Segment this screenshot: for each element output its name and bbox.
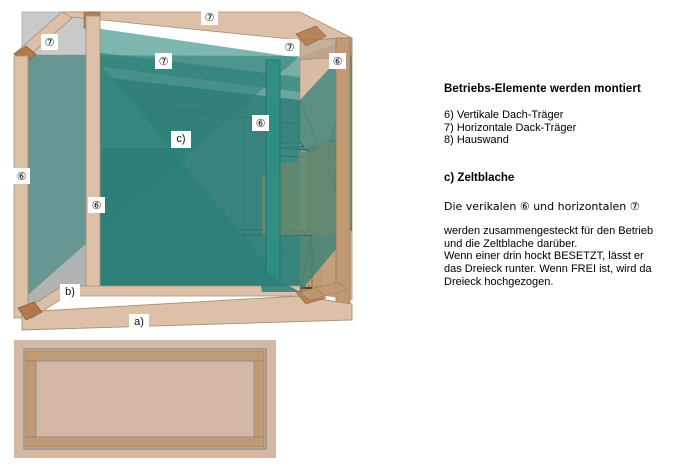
- isometric-toilet-diagram: +: [0, 0, 370, 340]
- legend-item-8: 8) Hauswand: [444, 134, 676, 147]
- paragraph-line-4: das Dreieck runter. Wenn FREI ist, wird …: [444, 263, 676, 276]
- paragraph-line-3: Wenn einer drin hockt BESETZT, lässt er: [444, 250, 676, 263]
- description-paragraph: werden zusammengesteckt für den Betrieb …: [444, 225, 676, 289]
- legend-item-6: 6) Vertikale Dach-Träger: [444, 109, 676, 122]
- info-panel: Betriebs-Elemente werden montiert 6) Ver…: [444, 82, 676, 289]
- legend-list: 6) Vertikale Dach-Träger 7) Horizontale …: [444, 109, 676, 147]
- screenshot-root: +: [0, 0, 685, 464]
- paragraph-line-5: Dreieck hochgezogen.: [444, 276, 676, 289]
- callout-base-a: a): [129, 314, 149, 331]
- callout-top-left-7: ⑦: [41, 34, 58, 50]
- callout-floor-b: b): [60, 284, 80, 301]
- callout-top-right-7: ⑦: [281, 39, 298, 55]
- section-heading: c) Zeltblache: [444, 171, 676, 185]
- paragraph-line-2: und die Zeltblache darüber.: [444, 238, 676, 251]
- callout-top-center-7: ⑦: [201, 9, 218, 25]
- callout-left-6: ⑥: [13, 168, 30, 184]
- callout-center-6: ⑥: [252, 115, 269, 131]
- flat-tarp-panel: [8, 336, 288, 466]
- callout-inner-6: ⑥: [88, 197, 105, 213]
- callout-right-upper-6: ⑥: [329, 53, 346, 69]
- callout-mid-left-7: ⑦: [155, 53, 172, 69]
- panel-heading: Betriebs-Elemente werden montiert: [444, 82, 676, 96]
- paragraph-line-1: werden zusammengesteckt für den Betrieb: [444, 225, 676, 238]
- callout-tarp-c: c): [171, 131, 191, 148]
- lead-line: Die verikalen ⑥ und horizontalen ⑦: [444, 200, 676, 213]
- legend-item-7: 7) Horizontale Dack-Träger: [444, 122, 676, 135]
